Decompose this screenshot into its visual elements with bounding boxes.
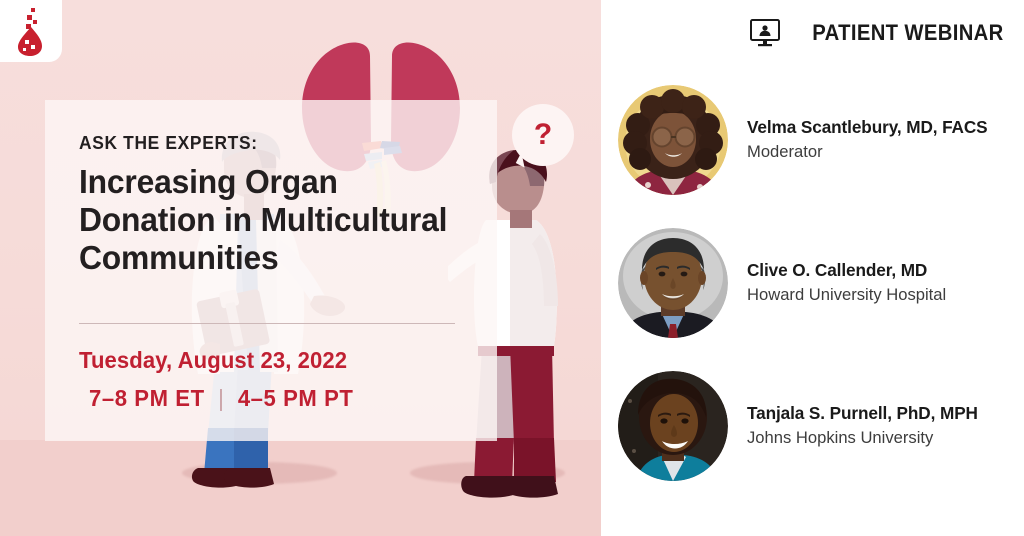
blood-drop-logo-icon bbox=[14, 8, 48, 56]
promo-time-et: 7–8 PM ET bbox=[89, 385, 205, 411]
card-divider bbox=[79, 323, 455, 324]
speaker-text: Clive O. Callender, MD Howard University… bbox=[747, 260, 946, 305]
kicker: PATIENT WEBINAR bbox=[750, 19, 1004, 47]
headline-line-2: Donation in Multicultural bbox=[79, 202, 448, 240]
kicker-label: PATIENT WEBINAR bbox=[813, 20, 1004, 46]
right-speakers-panel: PATIENT WEBINAR bbox=[601, 0, 1024, 536]
promo-text-card: ASK THE EXPERTS: Increasing Organ Donati… bbox=[45, 100, 497, 441]
speaker-name: Tanjala S. Purnell, PhD, MPH bbox=[747, 403, 978, 425]
question-speech-bubble-icon: ? bbox=[512, 104, 574, 166]
speaker-portrait-clive-callender bbox=[618, 228, 728, 338]
webinar-promo-graphic: ? ASK THE EXPERTS: Increasing Organ Dona… bbox=[0, 0, 1024, 536]
speaker-portrait-velma-scantlebury bbox=[618, 85, 728, 195]
brand-logo bbox=[0, 0, 62, 62]
left-illustration-panel: ? ASK THE EXPERTS: Increasing Organ Dona… bbox=[0, 0, 601, 536]
speaker-text: Velma Scantlebury, MD, FACS Moderator bbox=[747, 117, 988, 162]
promo-time-separator: | bbox=[211, 385, 231, 411]
speaker-portrait-tanjala-purnell bbox=[618, 371, 728, 481]
promo-time-pt: 4–5 PM PT bbox=[238, 385, 354, 411]
headline-line-3: Communities bbox=[79, 240, 448, 278]
speaker-name: Clive O. Callender, MD bbox=[747, 260, 946, 282]
promo-eyebrow: ASK THE EXPERTS: bbox=[79, 132, 444, 154]
promo-headline: Increasing Organ Donation in Multicultur… bbox=[79, 164, 448, 278]
speaker-role: Moderator bbox=[747, 141, 988, 163]
speaker-list: Velma Scantlebury, MD, FACS Moderator bbox=[618, 85, 1024, 514]
promo-time: 7–8 PM ET | 4–5 PM PT bbox=[89, 385, 353, 412]
monitor-person-icon bbox=[750, 19, 780, 47]
speaker-item: Velma Scantlebury, MD, FACS Moderator bbox=[618, 85, 1024, 195]
promo-date: Tuesday, August 23, 2022 bbox=[79, 347, 347, 374]
speaker-item: Tanjala S. Purnell, PhD, MPH Johns Hopki… bbox=[618, 371, 1024, 481]
speaker-item: Clive O. Callender, MD Howard University… bbox=[618, 228, 1024, 338]
bubble-question-mark: ? bbox=[534, 120, 552, 150]
speaker-text: Tanjala S. Purnell, PhD, MPH Johns Hopki… bbox=[747, 403, 978, 448]
speaker-name: Velma Scantlebury, MD, FACS bbox=[747, 117, 988, 139]
speaker-role: Johns Hopkins University bbox=[747, 427, 978, 449]
speaker-role: Howard University Hospital bbox=[747, 284, 946, 306]
headline-line-1: Increasing Organ bbox=[79, 164, 448, 202]
